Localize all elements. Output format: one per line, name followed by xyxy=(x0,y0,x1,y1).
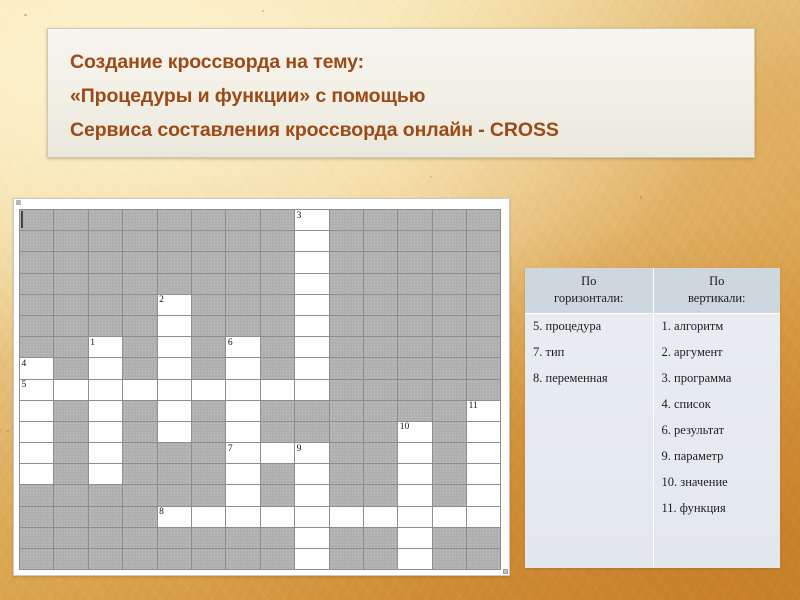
crossword-row: 79 xyxy=(20,443,501,464)
crossword-cell-block xyxy=(89,210,123,231)
crossword-cell-block xyxy=(123,464,157,485)
crossword-cell-open[interactable] xyxy=(295,507,329,528)
crossword-cell-open[interactable]: 10 xyxy=(398,422,432,443)
crossword-cell-number: 8 xyxy=(159,507,164,517)
clue-item: 4. список xyxy=(662,397,781,412)
crossword-cell-block xyxy=(123,443,157,464)
crossword-cell-number: 4 xyxy=(22,359,27,369)
crossword-cell-block xyxy=(433,337,467,358)
crossword-cell-block xyxy=(398,380,432,401)
crossword-cell-number: 9 xyxy=(297,444,302,454)
crossword-cell-open[interactable] xyxy=(20,422,54,443)
crossword-cell-block xyxy=(158,549,192,570)
crossword-row: 10 xyxy=(20,422,501,443)
crossword-cell-open[interactable] xyxy=(89,401,123,422)
crossword-cell-block xyxy=(330,401,364,422)
crossword-cell-block xyxy=(433,422,467,443)
clues-across-header: По горизонтали: xyxy=(525,268,653,314)
crossword-cell-block xyxy=(54,422,88,443)
crossword-cell-block xyxy=(192,210,226,231)
crossword-cell-open[interactable] xyxy=(295,380,329,401)
crossword-cell-block xyxy=(89,507,123,528)
crossword-cell-block xyxy=(261,252,295,273)
crossword-cell-block xyxy=(54,507,88,528)
clue-item: 6. результат xyxy=(662,423,781,438)
crossword-cell-open[interactable] xyxy=(398,485,432,506)
clues-down-header: По вертикали: xyxy=(654,268,781,314)
crossword-cell-block xyxy=(467,380,501,401)
crossword-cell-block xyxy=(54,528,88,549)
crossword-cell-open[interactable] xyxy=(192,380,226,401)
crossword-cell-open[interactable] xyxy=(398,528,432,549)
crossword-cell-block xyxy=(123,507,157,528)
crossword-cell-block xyxy=(20,528,54,549)
crossword-cell-open[interactable]: 8 xyxy=(158,507,192,528)
crossword-cell-block xyxy=(20,549,54,570)
crossword-cell-number: 3 xyxy=(297,211,302,221)
crossword-cell-number: 6 xyxy=(228,338,233,348)
crossword-cell-open[interactable] xyxy=(467,507,501,528)
crossword-cell-block xyxy=(433,210,467,231)
crossword-cell-open[interactable]: 5 xyxy=(20,380,54,401)
crossword-cell-block xyxy=(330,231,364,252)
crossword-cell-open[interactable] xyxy=(364,507,398,528)
clue-item: 10. значение xyxy=(662,475,781,490)
crossword-cell-block xyxy=(192,401,226,422)
crossword-cell-block xyxy=(226,295,260,316)
crossword-cell-block xyxy=(467,252,501,273)
crossword-cell-open[interactable] xyxy=(158,337,192,358)
panel-resize-handle-bottom-right[interactable] xyxy=(503,569,508,574)
crossword-cell-open[interactable] xyxy=(89,464,123,485)
clues-down-header-line-2: вертикали: xyxy=(656,290,779,307)
crossword-row: 4 xyxy=(20,358,501,379)
crossword-cell-block xyxy=(54,274,88,295)
crossword-cell-block xyxy=(123,295,157,316)
crossword-cell-block xyxy=(398,274,432,295)
crossword-cell-block xyxy=(467,316,501,337)
crossword-cell-open[interactable] xyxy=(226,380,260,401)
crossword-cell-block xyxy=(330,316,364,337)
crossword-cell-open[interactable] xyxy=(158,358,192,379)
crossword-cell-block xyxy=(261,401,295,422)
crossword-cell-block xyxy=(20,295,54,316)
crossword-cell-block xyxy=(192,422,226,443)
crossword-cell-open[interactable] xyxy=(261,380,295,401)
crossword-cell-block xyxy=(364,485,398,506)
crossword-cell-block xyxy=(398,337,432,358)
crossword-cell-open[interactable] xyxy=(20,464,54,485)
crossword-cell-block xyxy=(330,210,364,231)
crossword-cell-block xyxy=(364,358,398,379)
clue-item: 3. программа xyxy=(662,371,781,386)
clues-table: По горизонтали: 5. процедура 7. тип 8. п… xyxy=(525,268,780,568)
crossword-cell-open[interactable]: 7 xyxy=(226,443,260,464)
crossword-cell-open[interactable] xyxy=(158,316,192,337)
page-title-line-1: Создание кроссворда на тему: xyxy=(70,45,754,79)
crossword-cell-block xyxy=(467,337,501,358)
crossword-cell-block xyxy=(123,210,157,231)
crossword-cell-number: 1 xyxy=(90,338,95,348)
crossword-row xyxy=(20,528,501,549)
clues-column-across: По горизонтали: 5. процедура 7. тип 8. п… xyxy=(525,268,653,568)
texture-speck xyxy=(24,14,27,16)
crossword-cell-open[interactable]: 11 xyxy=(467,401,501,422)
crossword-cell-block xyxy=(330,528,364,549)
crossword-cell-block xyxy=(123,274,157,295)
crossword-cell-open[interactable] xyxy=(295,252,329,273)
crossword-row xyxy=(20,231,501,252)
crossword-cell-open[interactable] xyxy=(226,422,260,443)
crossword-cell-number: 11 xyxy=(469,401,478,411)
page-title-line-3: Сервиса составления кроссворда онлайн - … xyxy=(70,113,754,147)
crossword-cell-block xyxy=(89,295,123,316)
crossword-cell-block xyxy=(54,464,88,485)
crossword-cell-open[interactable] xyxy=(398,464,432,485)
crossword-cell-block xyxy=(433,316,467,337)
crossword-cell-block xyxy=(330,485,364,506)
crossword-cell-block xyxy=(192,528,226,549)
crossword-grid[interactable]: 3216451110798 xyxy=(19,209,501,570)
page-title-line-2: «Процедуры и функции» с помощью xyxy=(70,79,754,113)
texture-speck xyxy=(430,176,432,178)
crossword-cell-block xyxy=(295,422,329,443)
crossword-cell-open[interactable] xyxy=(433,507,467,528)
crossword-cell-block xyxy=(467,295,501,316)
crossword-cell-open[interactable] xyxy=(20,443,54,464)
crossword-cell-block xyxy=(158,528,192,549)
crossword-cell-block xyxy=(364,422,398,443)
crossword-cell-block xyxy=(123,358,157,379)
crossword-cell-open[interactable] xyxy=(467,464,501,485)
crossword-cell-block xyxy=(54,549,88,570)
crossword-cell-block xyxy=(364,337,398,358)
crossword-cell-open[interactable]: 2 xyxy=(158,295,192,316)
crossword-cell-block xyxy=(467,274,501,295)
clue-item: 8. переменная xyxy=(533,371,653,386)
crossword-cell-block xyxy=(433,380,467,401)
crossword-cell-block xyxy=(20,274,54,295)
crossword-cell-block xyxy=(54,358,88,379)
crossword-cell-open[interactable]: 1 xyxy=(89,337,123,358)
crossword-cell-block xyxy=(89,252,123,273)
clues-across-header-line-2: горизонтали: xyxy=(527,290,651,307)
clue-item: 9. параметр xyxy=(662,449,781,464)
crossword-cell-block xyxy=(123,401,157,422)
crossword-cell-block xyxy=(54,443,88,464)
crossword-row xyxy=(20,485,501,506)
clues-down-list: 1. алгоритм 2. аргумент 3. программа 4. … xyxy=(654,314,781,527)
crossword-row: 3 xyxy=(20,210,501,231)
crossword-cell-block xyxy=(364,464,398,485)
crossword-row: 11 xyxy=(20,401,501,422)
crossword-cell-open[interactable] xyxy=(226,464,260,485)
crossword-cell-open[interactable] xyxy=(295,464,329,485)
crossword-cell-block xyxy=(261,358,295,379)
crossword-row: 2 xyxy=(20,295,501,316)
crossword-cell-block xyxy=(54,337,88,358)
crossword-cell-block xyxy=(192,549,226,570)
clues-across-list: 5. процедура 7. тип 8. переменная xyxy=(525,314,653,397)
crossword-cell-block xyxy=(226,528,260,549)
crossword-row: 8 xyxy=(20,507,501,528)
crossword-cell-number: 2 xyxy=(159,295,164,305)
crossword-cell-block xyxy=(330,274,364,295)
crossword-cell-block xyxy=(261,485,295,506)
crossword-cell-block xyxy=(433,528,467,549)
crossword-cell-block xyxy=(89,316,123,337)
crossword-cell-block xyxy=(20,485,54,506)
crossword-cell-open[interactable] xyxy=(158,401,192,422)
crossword-cell-open[interactable] xyxy=(226,507,260,528)
clue-item: 2. аргумент xyxy=(662,345,781,360)
crossword-cell-block xyxy=(364,274,398,295)
crossword-cell-open[interactable] xyxy=(123,380,157,401)
crossword-cell-block xyxy=(54,210,88,231)
crossword-cell-open[interactable] xyxy=(89,443,123,464)
crossword-cell-open[interactable]: 6 xyxy=(226,337,260,358)
crossword-cell-block xyxy=(467,358,501,379)
crossword-cell-block xyxy=(54,316,88,337)
panel-resize-handle-top-left[interactable] xyxy=(16,200,21,205)
crossword-cell-block xyxy=(123,252,157,273)
crossword-cell-open[interactable] xyxy=(158,422,192,443)
crossword-cell-open[interactable] xyxy=(54,380,88,401)
crossword-cell-block xyxy=(158,274,192,295)
crossword-cell-block xyxy=(467,528,501,549)
crossword-cell-block xyxy=(226,231,260,252)
crossword-cell-block xyxy=(20,210,54,231)
crossword-cell-block xyxy=(89,549,123,570)
crossword-cell-block xyxy=(261,422,295,443)
crossword-cell-open[interactable] xyxy=(295,549,329,570)
clue-item: 11. функция xyxy=(662,501,781,516)
crossword-cell-block xyxy=(226,210,260,231)
crossword-cell-open[interactable]: 3 xyxy=(295,210,329,231)
crossword-cell-open[interactable] xyxy=(226,401,260,422)
crossword-cell-block xyxy=(433,464,467,485)
crossword-cell-open[interactable] xyxy=(398,549,432,570)
crossword-cell-block xyxy=(89,231,123,252)
crossword-row xyxy=(20,316,501,337)
crossword-cell-open[interactable]: 4 xyxy=(20,358,54,379)
crossword-cell-block xyxy=(467,231,501,252)
crossword-cell-open[interactable] xyxy=(20,401,54,422)
crossword-cell-block xyxy=(89,274,123,295)
crossword-cell-block xyxy=(192,485,226,506)
crossword-cell-block xyxy=(123,485,157,506)
crossword-cell-block xyxy=(364,549,398,570)
crossword-cell-block xyxy=(433,358,467,379)
crossword-cell-block xyxy=(20,252,54,273)
crossword-cell-block xyxy=(261,549,295,570)
crossword-cell-open[interactable] xyxy=(467,443,501,464)
crossword-cell-block xyxy=(226,274,260,295)
crossword-cell-block xyxy=(467,549,501,570)
crossword-cell-block xyxy=(364,231,398,252)
clue-item: 7. тип xyxy=(533,345,653,360)
crossword-cell-block xyxy=(467,210,501,231)
crossword-cell-block xyxy=(261,528,295,549)
crossword-cell-block xyxy=(158,231,192,252)
crossword-cell-block xyxy=(158,252,192,273)
crossword-cell-block xyxy=(226,316,260,337)
crossword-row: 16 xyxy=(20,337,501,358)
clues-across-header-line-1: По xyxy=(527,273,651,290)
crossword-cell-open[interactable] xyxy=(295,358,329,379)
crossword-cell-block xyxy=(330,549,364,570)
texture-speck xyxy=(262,10,264,12)
crossword-cell-block xyxy=(20,507,54,528)
crossword-cell-block xyxy=(123,231,157,252)
crossword-cell-block xyxy=(158,485,192,506)
crossword-cell-block xyxy=(433,485,467,506)
crossword-cell-block xyxy=(123,316,157,337)
crossword-cell-block xyxy=(261,464,295,485)
crossword-cell-block xyxy=(261,337,295,358)
clues-down-header-line-1: По xyxy=(656,273,779,290)
crossword-cell-open[interactable] xyxy=(226,485,260,506)
crossword-cell-block xyxy=(398,358,432,379)
clues-column-down: По вертикали: 1. алгоритм 2. аргумент 3.… xyxy=(653,268,781,568)
crossword-cell-block xyxy=(192,443,226,464)
crossword-cell-block xyxy=(364,528,398,549)
crossword-panel[interactable]: 3216451110798 xyxy=(13,198,510,576)
crossword-cell-block xyxy=(123,422,157,443)
crossword-cell-number: 7 xyxy=(228,444,233,454)
crossword-cell-block xyxy=(433,252,467,273)
crossword-cell-block xyxy=(54,295,88,316)
crossword-row xyxy=(20,252,501,273)
crossword-cell-block xyxy=(398,210,432,231)
crossword-cell-block xyxy=(330,295,364,316)
crossword-cell-open[interactable] xyxy=(89,422,123,443)
crossword-cell-open[interactable] xyxy=(89,380,123,401)
crossword-cell-block xyxy=(433,443,467,464)
crossword-cell-block xyxy=(330,337,364,358)
clue-item: 5. процедура xyxy=(533,319,653,334)
crossword-cell-open[interactable] xyxy=(226,358,260,379)
crossword-cell-open[interactable] xyxy=(398,507,432,528)
crossword-cell-block xyxy=(364,210,398,231)
crossword-row xyxy=(20,274,501,295)
crossword-cell-block xyxy=(364,316,398,337)
crossword-cell-number: 10 xyxy=(400,422,410,432)
crossword-cell-block xyxy=(295,401,329,422)
crossword-cell-block xyxy=(261,210,295,231)
crossword-cell-open[interactable] xyxy=(295,274,329,295)
crossword-cell-block xyxy=(158,443,192,464)
crossword-cell-open[interactable] xyxy=(330,507,364,528)
crossword-cell-block xyxy=(54,231,88,252)
crossword-cell-block xyxy=(158,210,192,231)
crossword-cell-block xyxy=(123,528,157,549)
crossword-cell-open[interactable] xyxy=(192,507,226,528)
crossword-cell-block xyxy=(398,316,432,337)
crossword-cell-open[interactable] xyxy=(295,295,329,316)
crossword-cell-block xyxy=(330,464,364,485)
crossword-cell-block xyxy=(192,358,226,379)
crossword-cell-block xyxy=(158,464,192,485)
crossword-cell-block xyxy=(192,337,226,358)
crossword-row: 5 xyxy=(20,380,501,401)
crossword-cell-block xyxy=(89,485,123,506)
crossword-cell-block xyxy=(192,316,226,337)
texture-speck xyxy=(640,196,642,199)
crossword-row xyxy=(20,549,501,570)
crossword-cell-block xyxy=(226,549,260,570)
crossword-cell-open[interactable] xyxy=(261,443,295,464)
crossword-cell-open[interactable] xyxy=(398,443,432,464)
crossword-cell-block xyxy=(433,549,467,570)
crossword-cell-block xyxy=(261,274,295,295)
crossword-cell-block xyxy=(192,274,226,295)
crossword-cell-block xyxy=(433,274,467,295)
crossword-cell-open[interactable] xyxy=(467,422,501,443)
crossword-cell-block xyxy=(54,252,88,273)
crossword-cell-block xyxy=(330,358,364,379)
crossword-cell-block xyxy=(364,401,398,422)
crossword-cell-open[interactable]: 9 xyxy=(295,443,329,464)
crossword-cell-block xyxy=(20,337,54,358)
crossword-cell-open[interactable] xyxy=(467,485,501,506)
crossword-cell-block xyxy=(398,231,432,252)
crossword-cell-block xyxy=(330,443,364,464)
crossword-cell-block xyxy=(123,337,157,358)
texture-speck xyxy=(6,430,9,432)
text-caret xyxy=(21,211,23,228)
clue-item: 1. алгоритм xyxy=(662,319,781,334)
crossword-cell-block xyxy=(192,464,226,485)
crossword-cell-block xyxy=(433,295,467,316)
crossword-cell-open[interactable] xyxy=(89,358,123,379)
crossword-cell-open[interactable] xyxy=(295,485,329,506)
crossword-cell-number: 5 xyxy=(22,380,27,390)
crossword-cell-block xyxy=(364,443,398,464)
crossword-cell-block xyxy=(330,422,364,443)
crossword-cell-block xyxy=(398,252,432,273)
crossword-cell-open[interactable] xyxy=(295,528,329,549)
crossword-cell-block xyxy=(330,252,364,273)
crossword-cell-block xyxy=(192,252,226,273)
crossword-cell-block xyxy=(192,295,226,316)
crossword-cell-block xyxy=(261,295,295,316)
crossword-cell-block xyxy=(54,485,88,506)
crossword-cell-block xyxy=(261,316,295,337)
crossword-cell-block xyxy=(20,231,54,252)
crossword-cell-open[interactable] xyxy=(295,337,329,358)
crossword-cell-block xyxy=(192,231,226,252)
crossword-cell-block xyxy=(261,231,295,252)
crossword-cell-block xyxy=(54,401,88,422)
crossword-cell-block xyxy=(364,252,398,273)
crossword-cell-block xyxy=(20,316,54,337)
crossword-cell-open[interactable] xyxy=(295,316,329,337)
crossword-cell-block xyxy=(398,401,432,422)
crossword-cell-open[interactable] xyxy=(295,231,329,252)
crossword-cell-block xyxy=(433,231,467,252)
crossword-cell-block xyxy=(89,528,123,549)
crossword-cell-block xyxy=(433,401,467,422)
crossword-cell-open[interactable] xyxy=(158,380,192,401)
crossword-cell-block xyxy=(364,295,398,316)
crossword-cell-block xyxy=(364,380,398,401)
title-banner: Создание кроссворда на тему: «Процедуры … xyxy=(47,28,755,158)
crossword-row xyxy=(20,464,501,485)
crossword-cell-block xyxy=(398,295,432,316)
crossword-cell-open[interactable] xyxy=(261,507,295,528)
crossword-cell-block xyxy=(330,380,364,401)
